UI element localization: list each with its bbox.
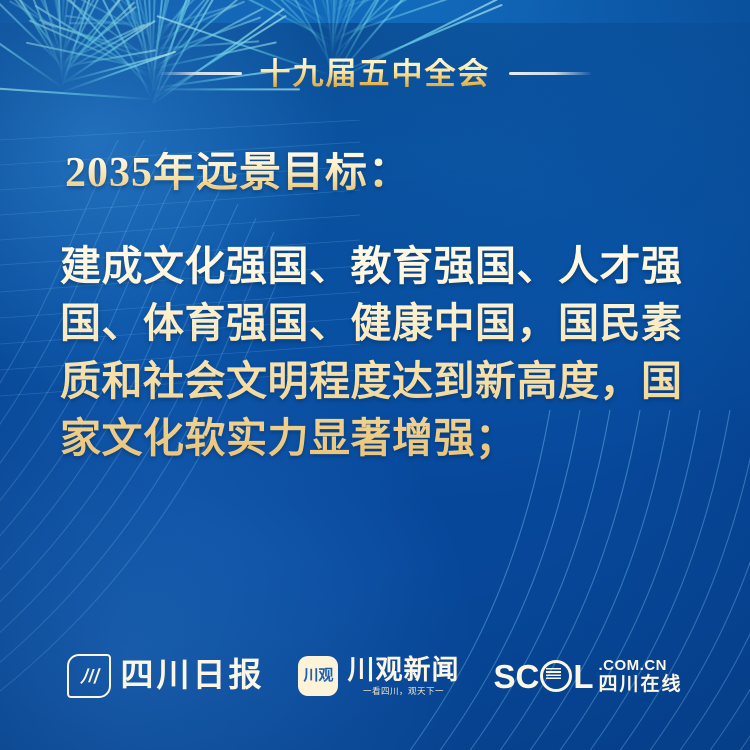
scol-cn-name: 四川在线: [599, 675, 683, 694]
page-title: 十九届五中全会: [260, 58, 491, 89]
sichuan-daily-wordmark: 四川日报: [120, 660, 264, 693]
scol-word-right: L: [573, 660, 593, 693]
scol-globe-icon: [540, 660, 572, 692]
chuanguan-tagline: 一看四川，观天下一: [363, 687, 444, 696]
scol-text-group: .COM.CN 四川在线: [599, 658, 683, 694]
scol-wordmark: SC L: [493, 660, 593, 693]
footer-logo-bar: 川 四川日报 川观 川观新闻 一看四川，观天下一 SC L .COM.CN 四川…: [0, 654, 750, 698]
chuanguan-text-group: 川观新闻 一看四川，观天下一: [347, 657, 459, 696]
decorative-rule-right-icon: [509, 72, 591, 75]
chuanguan-app-icon: 川观: [298, 656, 338, 696]
logo-sichuan-daily: 川 四川日报: [67, 654, 264, 698]
scol-domain-text: .COM.CN: [599, 658, 683, 673]
sichuan-daily-mark-icon: 川: [67, 654, 111, 698]
chuanguan-app-icon-glyph: 川观: [303, 669, 333, 684]
scol-word-left: SC: [493, 660, 539, 693]
sichuan-daily-mark-glyph: 川: [81, 668, 99, 685]
chuanguan-wordmark: 川观新闻: [347, 657, 459, 684]
decorative-rule-left-icon: [160, 72, 242, 75]
poster-header: 十九届五中全会: [0, 58, 750, 89]
main-content: 2035年远景目标： 建成文化强国、教育强国、人才强国、体育强国、健康中国，国民…: [60, 152, 698, 468]
headline-text: 2035年远景目标：: [65, 152, 698, 194]
logo-chuanguan-news: 川观 川观新闻 一看四川，观天下一: [298, 656, 459, 696]
body-text: 建成文化强国、教育强国、人才强国、体育强国、健康中国，国民素质和社会文明程度达到…: [60, 238, 698, 468]
poster-root: 十九届五中全会 2035年远景目标： 建成文化强国、教育强国、人才强国、体育强国…: [0, 0, 750, 750]
logo-scol: SC L .COM.CN 四川在线: [493, 658, 682, 694]
